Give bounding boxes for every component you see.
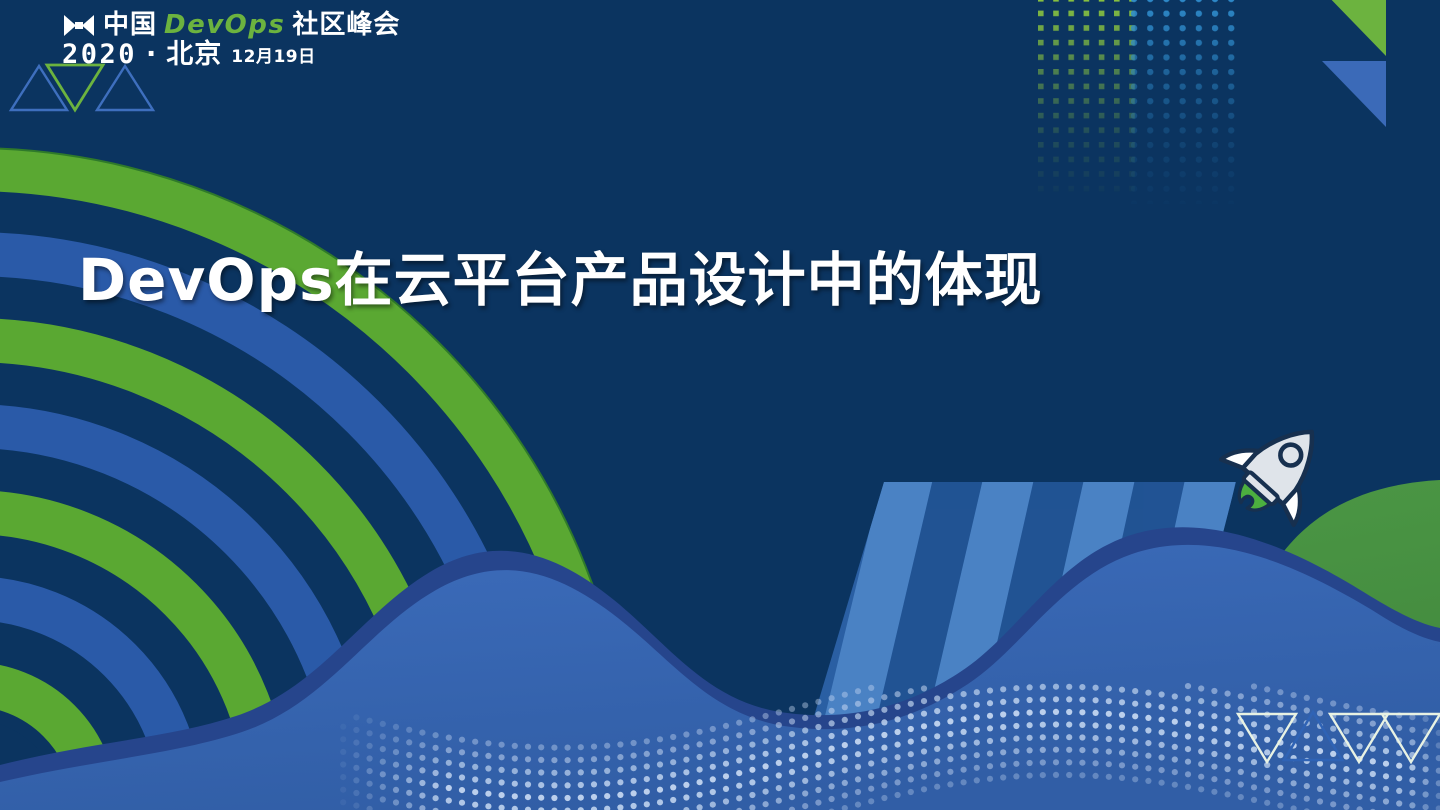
event-logo: 中国 DevOps 社区峰会 2020 · 北京 12月19日 bbox=[62, 12, 400, 68]
logo-line-2: 2020 · 北京 12月19日 bbox=[62, 41, 400, 68]
logo-city: 北京 bbox=[166, 41, 222, 68]
slide-title: DevOps在云平台产品设计中的体现 bbox=[78, 247, 1043, 314]
logo-country: 中国 bbox=[103, 12, 157, 38]
slide-background-art bbox=[0, 0, 1440, 810]
logo-line-1: 中国 DevOps 社区峰会 bbox=[62, 12, 400, 38]
logo-brand: DevOps bbox=[164, 12, 285, 38]
logo-separator: · bbox=[146, 41, 157, 68]
dot-grid-green bbox=[1035, 0, 1140, 194]
logo-date: 12月19日 bbox=[231, 49, 315, 68]
presentation-slide: 中国 DevOps 社区峰会 2020 · 北京 12月19日 DevOps在云… bbox=[0, 0, 1440, 810]
logo-event: 社区峰会 bbox=[292, 12, 400, 38]
bowtie-x-mark-icon bbox=[62, 13, 96, 38]
logo-year: 2020 bbox=[62, 41, 137, 68]
dot-grid-blue bbox=[1128, 0, 1243, 206]
